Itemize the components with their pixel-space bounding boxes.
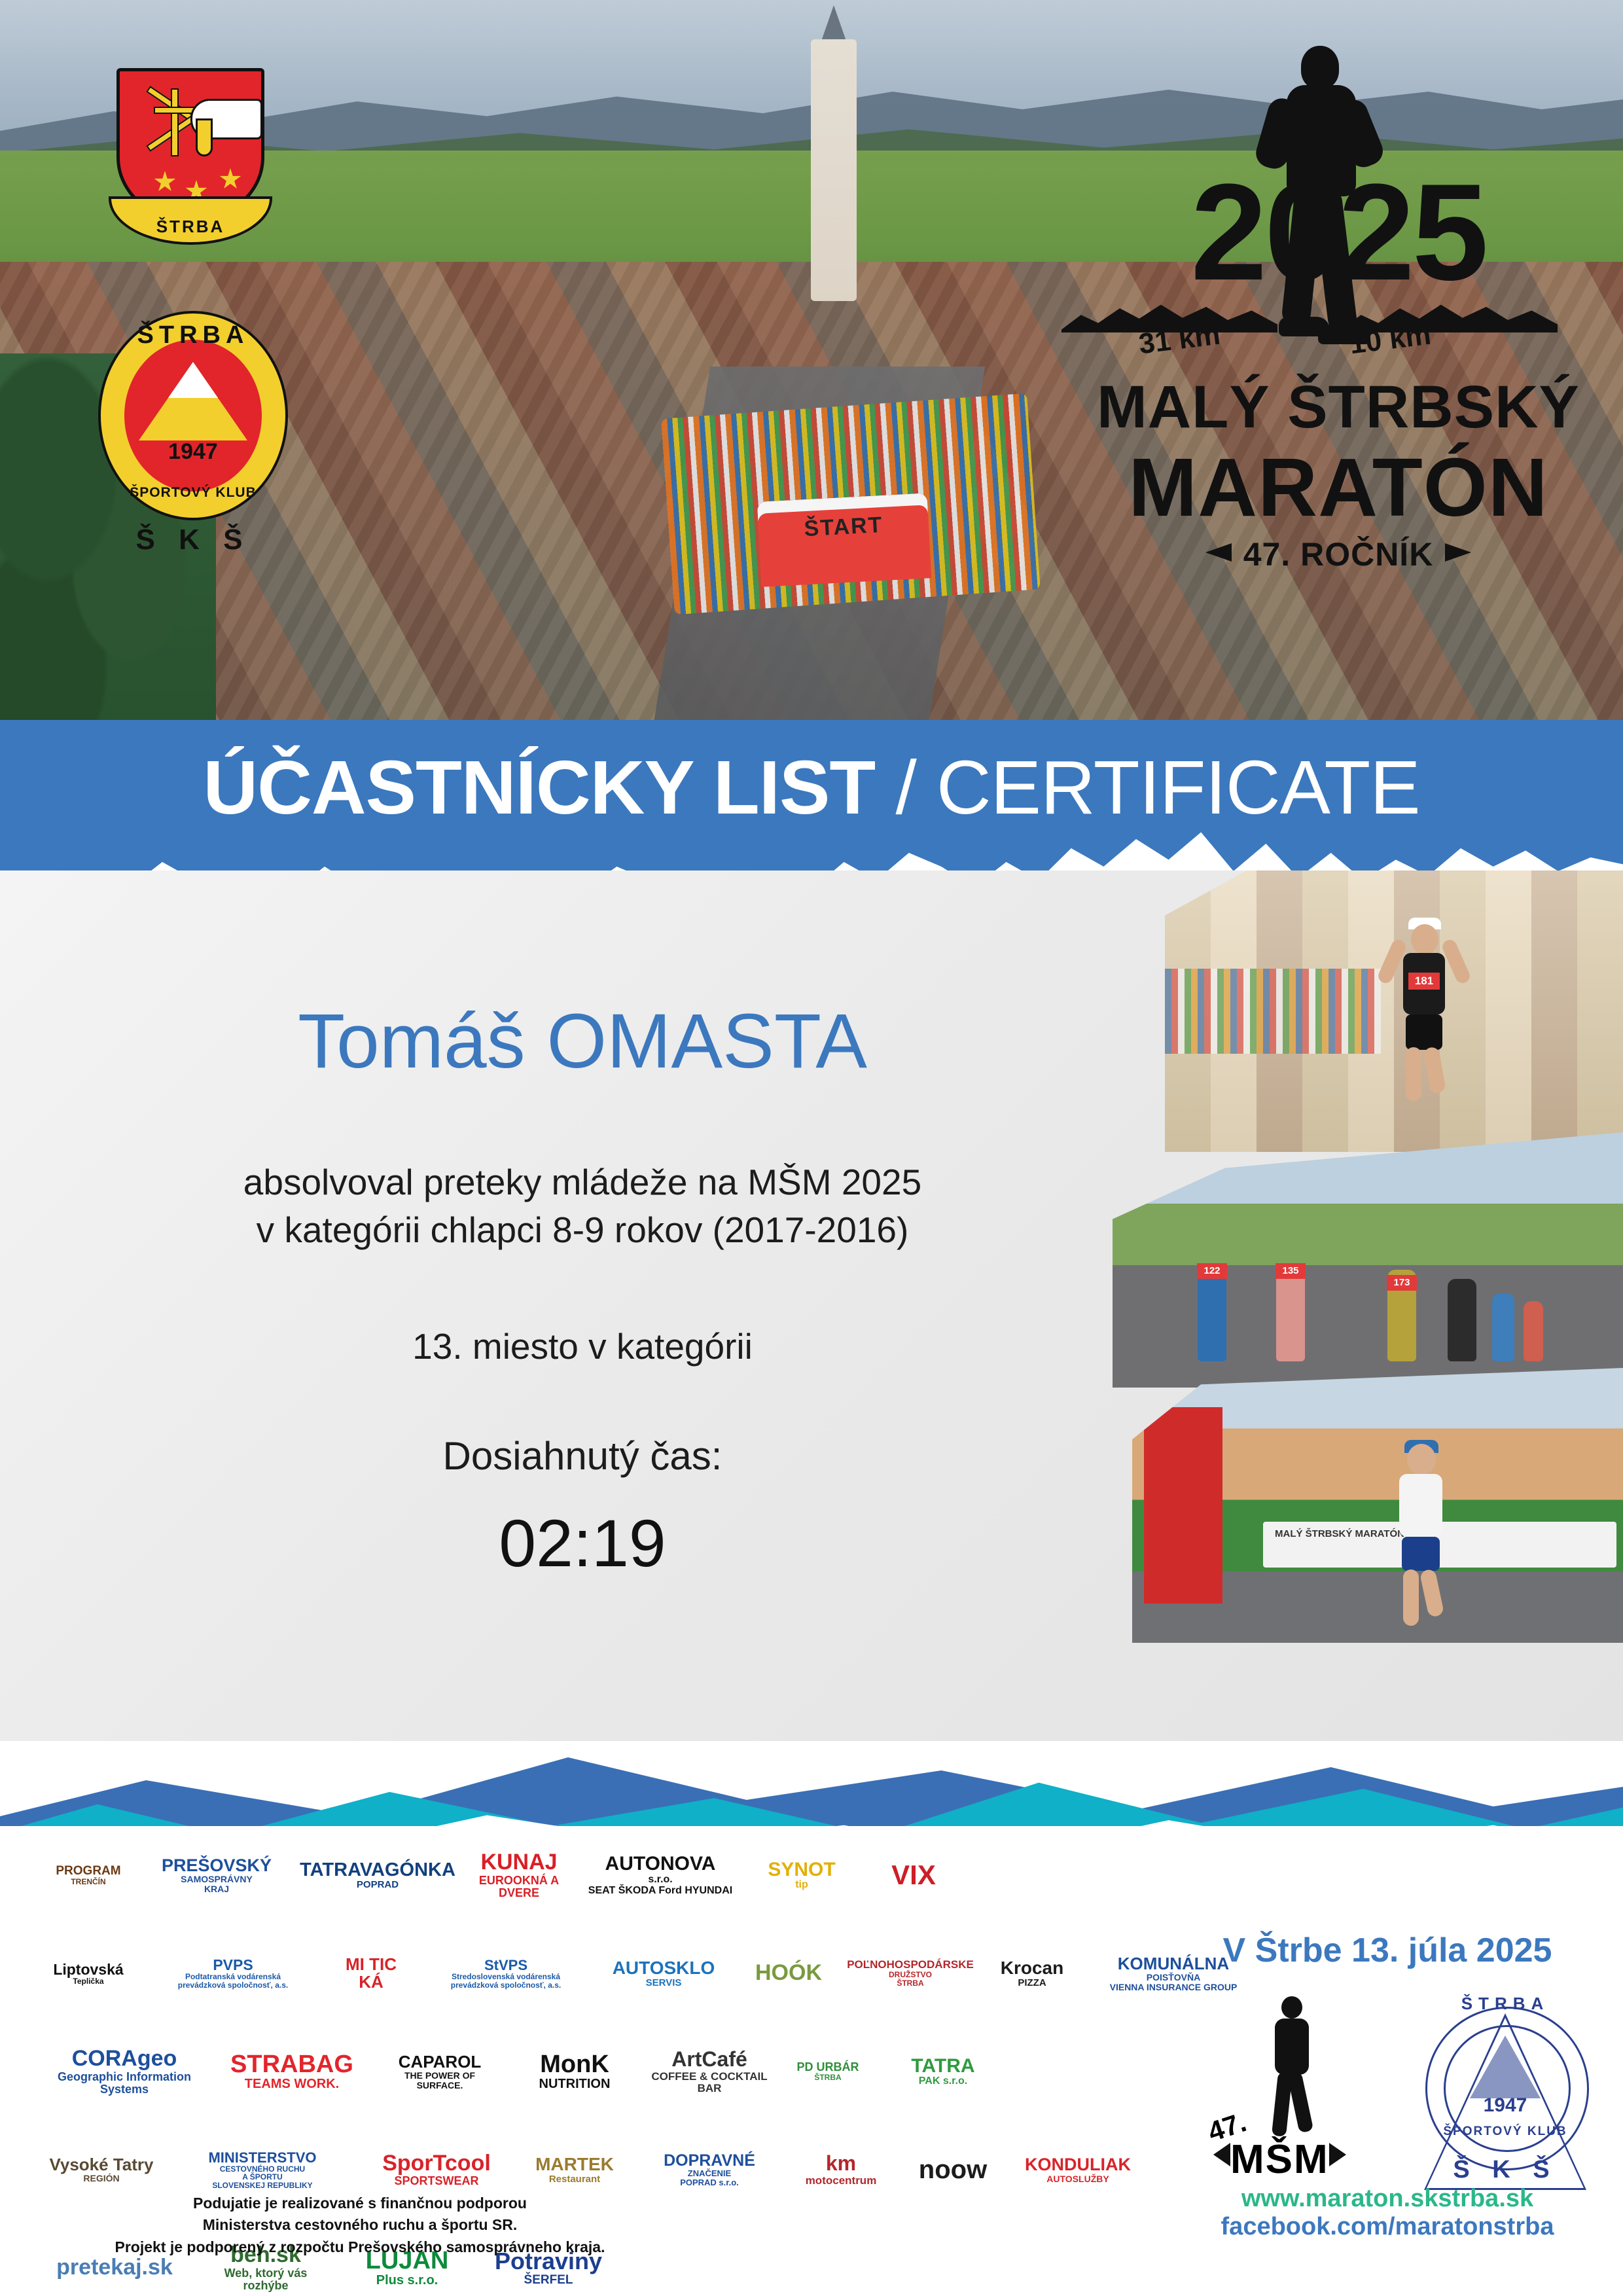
sponsor-logo-line: MINISTERSTVO	[208, 2150, 316, 2165]
sponsor-logo-line: MARTEK	[535, 2155, 614, 2174]
sponsor-logo-line: VIX	[891, 1861, 936, 1890]
contact-links: www.maraton.skstrba.sk facebook.com/mara…	[1171, 2185, 1603, 2241]
sponsor-logo-line: KONDULIAK	[1025, 2155, 1131, 2174]
photo-finishing-female-runner: 181	[1165, 870, 1623, 1152]
sponsor-logo-line: prevádzková spoločnosť, a.s.	[178, 1981, 288, 1990]
sponsor-logo-line: ŠERFEL	[524, 2274, 573, 2287]
sponsor-logo-line: POISŤOVŇA	[1147, 1973, 1200, 1982]
sponsor-logo-line: PREŠOVSKÝ	[162, 1856, 272, 1874]
sponsor-logo: PVPSPodtatranská vodárenskáprevádzková s…	[148, 1957, 318, 1989]
sponsor-logo-line: COFFEE & COCKTAIL BAR	[651, 2071, 768, 2094]
sks-club-logo: ŠTRBA 1947 ŠPORTOVÝ KLUB	[98, 311, 288, 520]
triangle-right-icon	[1445, 543, 1471, 562]
sks-stamp-emblem: ŠTRBA 1947 ŠPORTOVÝ KLUB Š K Š	[1414, 1990, 1597, 2199]
male-runner	[1381, 1440, 1459, 1636]
sponsor-logo-line: ŠTRBA	[814, 2073, 841, 2082]
crest-ribbon: ŠTRBA	[109, 196, 272, 245]
sponsor-logo-line: Restaurant	[549, 2174, 600, 2185]
sponsor-logo: AUTOSKLOSERVIS	[605, 1958, 722, 1988]
runner-silhouette-icon	[1257, 1996, 1329, 2137]
sponsor-logo: CAPAROLTHE POWER OF SURFACE.	[381, 2053, 499, 2090]
sponsor-logo: TATRAPAK s.r.o.	[887, 2056, 999, 2087]
spectators	[1165, 969, 1381, 1054]
msm-emblem: 47. MŠM	[1204, 1996, 1368, 2193]
sponsor-logo-line: Krocan	[1001, 1958, 1063, 1977]
sponsor-logo-line: CAPAROL	[399, 2053, 482, 2071]
runner-shorts	[1402, 1537, 1440, 1571]
sponsor-logo-line: SYNOT	[768, 1859, 835, 1880]
photo-collage: 181 122 135 173 MALÝ ŠTRBSKÝ M	[1113, 870, 1623, 1741]
sponsor-logo-line: ŠTRBA	[897, 1979, 923, 1988]
sponsor-logo-line: PVPS	[213, 1957, 253, 1973]
event-edition-row: 47. ROČNÍK	[1054, 535, 1623, 573]
participant-name: Tomáš OMASTA	[79, 1001, 1086, 1083]
runner-head	[1411, 924, 1438, 954]
sponsor-logo-line: SporTcool	[382, 2152, 491, 2176]
crest-cross-icon	[171, 88, 179, 156]
sponsor-logo: Vysoké TatryREGIÓN	[46, 2156, 157, 2183]
sponsor-logo-line: REGIÓN	[83, 2174, 119, 2183]
sponsor-logo-line: ZNAČENIE	[688, 2169, 731, 2178]
sponsor-logo: PROGRAMTRENČÍN	[46, 1865, 131, 1886]
sponsor-row: CORAgeoGeographic Information SystemsSTR…	[46, 2022, 1158, 2121]
title-separator: /	[875, 745, 936, 830]
runner-leg-right	[1419, 1568, 1444, 1617]
sponsor-logo-line: POĽNOHOSPODÁRSKE	[847, 1959, 974, 1971]
placement-text: 13. miesto v kategórii	[79, 1325, 1086, 1367]
sponsor-logo-line: AUTONOVA	[605, 1854, 716, 1874]
bib-number: 181	[1408, 973, 1440, 990]
sponsor-logo-line: pretekaj.sk	[56, 2256, 173, 2280]
title-english: CERTIFICATE	[936, 745, 1420, 830]
sponsor-logo-line: SERVIS	[646, 1978, 682, 1988]
certificate-page: ŠTRBA ŠTRBA 1947 ŠPORTOVÝ KLUB Š K Š 202…	[0, 0, 1623, 2296]
runner-shorts	[1406, 1014, 1442, 1050]
sponsor-logo-line: EUROOKNÁ A DVERE	[470, 1874, 568, 1899]
runner-group: 122 135 173	[1191, 1224, 1558, 1361]
sponsor-logo-line: TATRA	[911, 2056, 974, 2077]
sponsor-logo: CORAgeoGeographic Information Systems	[46, 2047, 203, 2095]
crest-star-icon	[219, 168, 241, 190]
sponsor-logo-line: STRABAG	[230, 2052, 353, 2078]
sponsor-logo-line: SPORTSWEAR	[394, 2175, 478, 2187]
sponsor-logo: POĽNOHOSPODÁRSKEDRUŽSTVOŠTRBA	[855, 1959, 966, 1987]
sks-stamp-top-label: ŠTRBA	[1414, 1994, 1597, 2014]
sponsor-logo-line: SLOVENSKEJ REPUBLIKY	[212, 2181, 312, 2190]
sponsor-logo-line: CORAgeo	[72, 2047, 177, 2071]
event-edition-label: 47. ROČNÍK	[1243, 536, 1434, 573]
sponsor-logo-line: THE POWER OF SURFACE.	[381, 2071, 499, 2090]
sponsor-logo: HOÓK	[740, 1962, 838, 1985]
sponsor-logo-line: motocentrum	[806, 2175, 877, 2187]
sponsor-logo-line: A ŠPORTU	[242, 2173, 283, 2181]
sks-stamp-abbrev: Š K Š	[1414, 2156, 1597, 2184]
sponsor-logo-line: SEAT ŠKODA Ford HYUNDAI	[588, 1886, 732, 1897]
sponsor-logo-line: noow	[919, 2156, 987, 2183]
runner-leg-left	[1406, 1047, 1421, 1101]
sponsor-logo-line: SAMOSPRÁVNY	[181, 1874, 253, 1884]
runner-leg-right	[1423, 1046, 1446, 1094]
sks-stamp-year: 1947	[1414, 2094, 1597, 2117]
bib-number: 135	[1275, 1263, 1306, 1279]
sponsor-logo-line: prevádzková spoločnosť, a.s.	[451, 1981, 561, 1990]
title-slovak: ÚČASTNÍCKY LIST	[203, 745, 875, 830]
sponsor-logo-line: HOÓK	[755, 1962, 822, 1985]
sponsor-logo: MARTEKRestaurant	[522, 2155, 627, 2184]
event-logo: 2025 31 km 10 km MALÝ ŠTRBSKÝ MARATÓN 47…	[1054, 33, 1623, 615]
sponsor-logo-line: Liptovská	[53, 1962, 123, 1977]
strba-coat-of-arms: ŠTRBA	[109, 68, 272, 264]
runner-head	[1407, 1444, 1436, 1475]
sponsor-logo-line: AUTOSLUŽBY	[1046, 2174, 1109, 2184]
certificate-title: ÚČASTNÍCKY LIST / CERTIFICATE	[0, 749, 1623, 825]
triangle-left-icon	[1213, 2143, 1230, 2166]
sponsor-logo-line: PAK s.r.o.	[919, 2076, 967, 2087]
sponsor-logo-line: MI TIC KÁ	[335, 1956, 407, 1992]
sponsor-logo: PREŠOVSKÝSAMOSPRÁVNYKRAJ	[148, 1856, 285, 1894]
description-line-1: absolvoval preteky mládeže na MŠM 2025	[79, 1158, 1086, 1206]
sponsor-logo: ArtCaféCOFFEE & COCKTAIL BAR	[651, 2049, 768, 2094]
female-runner: 181	[1381, 912, 1466, 1128]
sponsor-logo-line: Vysoké Tatry	[50, 2156, 154, 2174]
event-title-line1: MALÝ ŠTRBSKÝ	[1054, 373, 1623, 442]
sponsor-logo-line: AUTOSKLO	[613, 1958, 715, 1977]
sponsor-logo: MI TIC KÁ	[335, 1956, 407, 1992]
funding-disclaimer: Podujatie je realizované s finančnou pod…	[46, 2193, 674, 2258]
event-year: 2025	[1054, 164, 1623, 301]
sponsor-logo-line: TEAMS WORK.	[245, 2077, 339, 2091]
sponsor-logo: TATRAVAGÓNKAPOPRAD	[302, 1860, 453, 1890]
runner-figure	[1492, 1293, 1514, 1361]
sponsor-row: PROGRAMTRENČÍNPREŠOVSKÝSAMOSPRÁVNYKRAJTA…	[46, 1826, 1158, 1924]
disclaimer-line-3: Projekt je podporený z rozpočtu Prešovsk…	[46, 2236, 674, 2258]
runner-arm-right	[1440, 938, 1472, 986]
event-title-line2: MARATÓN	[1054, 440, 1623, 535]
sponsor-logo-line: tip	[795, 1880, 808, 1891]
sponsor-logo-line: Teplička	[73, 1977, 103, 1986]
sponsor-logo-line: s.r.o.	[648, 1874, 672, 1886]
sks-top-label: ŠTRBA	[98, 321, 288, 350]
distances-row: 31 km 10 km	[1054, 289, 1623, 368]
sponsor-logo-line: Stredoslovenská vodárenská	[452, 1973, 560, 1981]
runner-figure	[1448, 1279, 1476, 1361]
red-flag	[1144, 1407, 1222, 1604]
runner-top	[1399, 1474, 1442, 1537]
time-label: Dosiahnutý čas:	[79, 1433, 1086, 1479]
photo-male-runner-at-finish: MALÝ ŠTRBSKÝ MARATÓN	[1132, 1368, 1623, 1643]
sks-year-label: 1947	[98, 439, 288, 465]
sponsor-logo-line: KUNAJ	[480, 1851, 557, 1874]
sponsor-logo-line: Plus s.r.o.	[376, 2274, 438, 2287]
sks-abbrev-label: Š K Š	[98, 524, 288, 556]
sponsor-logo-line: PROGRAM	[56, 1865, 120, 1878]
sponsor-logo-line: TATRAVAGÓNKA	[300, 1860, 455, 1880]
description-line-2: v kategórii chlapci 8-9 rokov (2017-2016…	[79, 1206, 1086, 1254]
sponsor-logo: noow	[907, 2156, 999, 2183]
sponsor-logo-line: km	[826, 2153, 856, 2175]
sponsor-logo: kmmotocentrum	[792, 2153, 890, 2186]
footer-emblems: 47. MŠM ŠTRBA 1947 ŠPORTOVÝ KLUB Š K Š	[1198, 1990, 1603, 2199]
sponsor-logo: KUNAJEUROOKNÁ A DVERE	[470, 1851, 568, 1899]
sponsor-logo: KrocanPIZZA	[983, 1958, 1081, 1988]
sponsor-logo-line: DOPRAVNÉ	[664, 2152, 755, 2169]
issue-date: V Štrbe 13. júla 2025	[1171, 1931, 1603, 1970]
sks-stamp-bottom-label: ŠPORTOVÝ KLUB	[1414, 2125, 1597, 2139]
sponsor-logo-line: PIZZA	[1018, 1978, 1046, 1988]
runner-figure	[1524, 1301, 1543, 1361]
sponsor-logo-line: ArtCafé	[671, 2049, 747, 2071]
triangle-left-icon	[1205, 543, 1232, 562]
sponsor-logo: STRABAGTEAMS WORK.	[220, 2052, 364, 2092]
sponsor-logo: pretekaj.sk	[46, 2256, 183, 2280]
disclaimer-line-2: Ministerstva cestovného ruchu a športu S…	[46, 2214, 674, 2236]
footer: PROGRAMTRENČÍNPREŠOVSKÝSAMOSPRÁVNYKRAJTA…	[0, 1826, 1623, 2296]
bib-number: 173	[1387, 1275, 1417, 1291]
sponsor-logo: KONDULIAKAUTOSLUŽBY	[1016, 2155, 1140, 2183]
runner-leg-left	[1403, 1570, 1419, 1626]
sponsor-logo: MINISTERSTVOCESTOVNÉHO RUCHUA ŠPORTUSLOV…	[174, 2150, 351, 2190]
sponsor-logo: VIX	[868, 1861, 959, 1890]
disclaimer-line-1: Podujatie je realizované s finančnou pod…	[46, 2193, 674, 2214]
sponsor-logo-line: POPRAD s.r.o.	[680, 2178, 739, 2187]
website-link[interactable]: www.maraton.skstrba.sk	[1171, 2185, 1603, 2213]
sponsor-logo: AUTONOVAs.r.o.SEAT ŠKODA Ford HYUNDAI	[585, 1854, 736, 1896]
bib-number: 122	[1197, 1263, 1227, 1279]
sponsor-logo-line: TRENČÍN	[71, 1878, 105, 1886]
sks-bottom-label: ŠPORTOVÝ KLUB	[98, 485, 288, 501]
sponsor-row: LiptovskáTepličkaPVPSPodtatranská vodáre…	[46, 1924, 1158, 2022]
sponsor-logo-line: KRAJ	[204, 1884, 229, 1894]
sponsor-logo-line: StVPS	[484, 1958, 527, 1973]
sponsor-logo: LiptovskáTeplička	[46, 1962, 131, 1986]
sponsor-logo-line: NUTRITION	[539, 2077, 611, 2091]
crest-star-icon	[154, 171, 176, 193]
participant-description: absolvoval preteky mládeže na MŠM 2025 v…	[79, 1158, 1086, 1254]
sponsor-logo: DOPRAVNÉZNAČENIEPOPRAD s.r.o.	[644, 2152, 775, 2187]
photo-runners-on-hill-road: 122 135 173	[1113, 1132, 1623, 1388]
sponsor-logo-line: POPRAD	[357, 1880, 399, 1890]
facebook-link[interactable]: facebook.com/maratonstrba	[1171, 2213, 1603, 2241]
sponsor-logo: MonKNUTRITION	[516, 2052, 633, 2092]
sponsor-logo: StVPSStredoslovenská vodárenskáprevádzko…	[424, 1958, 588, 1989]
sponsor-logo-line: PD URBÁR	[796, 2061, 859, 2073]
time-value: 02:19	[79, 1505, 1086, 1582]
sponsor-logo-line: Geographic Information Systems	[46, 2071, 203, 2096]
sponsor-logo: SporTcoolSPORTSWEAR	[368, 2152, 505, 2188]
sponsor-logo-line: MonK	[540, 2052, 609, 2078]
sponsor-logo: PD URBÁRŠTRBA	[785, 2061, 870, 2081]
crest-cuff	[196, 118, 213, 156]
crest-ribbon-label: ŠTRBA	[111, 217, 270, 237]
msm-abbrev-label: MŠM	[1230, 2137, 1329, 2182]
msm-abbrev-row: MŠM	[1213, 2136, 1346, 2183]
sponsor-logo-line: Web, ktorý vás rozhýbe	[200, 2267, 331, 2292]
triangle-right-icon	[1329, 2143, 1346, 2166]
sponsor-logo: SYNOTtip	[753, 1859, 851, 1891]
